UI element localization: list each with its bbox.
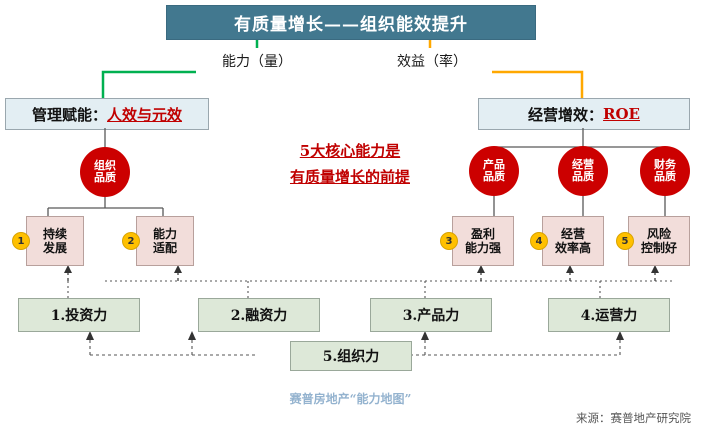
force-box-financing[interactable]: 2.融资力 — [198, 298, 320, 332]
circle-1-line2: 品质 — [483, 171, 505, 183]
capability-box-risk-control[interactable]: 风险 控制好 — [628, 216, 690, 266]
capability-2-line2: 能力强 — [465, 241, 501, 255]
capability-box-strong-profitability[interactable]: 盈利 能力强 — [452, 216, 514, 266]
force-box-operations[interactable]: 4.运营力 — [548, 298, 670, 332]
circle-finance-quality[interactable]: 财务 品质 — [640, 146, 690, 196]
capability-3-line2: 效率高 — [555, 241, 591, 255]
circle-0-line2: 品质 — [94, 172, 116, 184]
circle-3-line2: 品质 — [654, 171, 676, 183]
badge-number-5: 5 — [616, 232, 634, 250]
branch-label-benefit: 效益（率） — [372, 48, 492, 74]
center-note: 5大核心能力是 有质量增长的前提 — [250, 138, 450, 191]
header-left-prefix: 管理赋能： — [32, 104, 107, 125]
capability-box-sustained-development[interactable]: 持续 发展 — [26, 216, 84, 266]
branch-label-capability: 能力（量） — [196, 48, 318, 74]
circle-operation-quality[interactable]: 经营 品质 — [558, 146, 608, 196]
page-title: 有质量增长——组织能效提升 — [166, 5, 536, 40]
capability-box-capability-fit[interactable]: 能力 适配 — [136, 216, 194, 266]
badge-number-4: 4 — [530, 232, 548, 250]
capability-0-line2: 发展 — [43, 241, 67, 255]
capability-3-line1: 经营 — [561, 227, 585, 241]
header-right-prefix: 经营增效： — [528, 104, 603, 125]
capability-1-line2: 适配 — [153, 241, 177, 255]
badge-number-2: 2 — [122, 232, 140, 250]
source-attribution: 来源：赛普地产研究院 — [576, 410, 691, 426]
force-box-organization[interactable]: 5.组织力 — [290, 341, 412, 371]
center-note-line2: 有质量增长的前提 — [250, 164, 450, 190]
center-note-line1: 5大核心能力是 — [250, 138, 450, 164]
diagram-canvas: 有质量增长——组织能效提升 能力（量） 效益（率） 管理赋能： 人效与元效 经营… — [0, 0, 701, 436]
force-box-investment[interactable]: 1.投资力 — [18, 298, 140, 332]
capability-box-high-efficiency[interactable]: 经营 效率高 — [542, 216, 604, 266]
force-box-product[interactable]: 3.产品力 — [370, 298, 492, 332]
badge-number-1: 1 — [12, 232, 30, 250]
header-right-highlight: ROE — [603, 105, 640, 123]
capability-4-line2: 控制好 — [641, 241, 677, 255]
capability-4-line1: 风险 — [647, 227, 671, 241]
header-box-management[interactable]: 管理赋能： 人效与元效 — [5, 98, 209, 130]
diagram-caption: 赛普房地产“能力地图” — [0, 390, 701, 407]
circle-2-line2: 品质 — [572, 171, 594, 183]
header-box-operations[interactable]: 经营增效： ROE — [478, 98, 690, 130]
header-left-highlight: 人效与元效 — [107, 104, 182, 125]
circle-organization-quality[interactable]: 组织 品质 — [80, 147, 130, 197]
capability-2-line1: 盈利 — [471, 227, 495, 241]
capability-1-line1: 能力 — [153, 227, 177, 241]
circle-product-quality[interactable]: 产品 品质 — [469, 146, 519, 196]
capability-0-line1: 持续 — [43, 227, 67, 241]
badge-number-3: 3 — [440, 232, 458, 250]
